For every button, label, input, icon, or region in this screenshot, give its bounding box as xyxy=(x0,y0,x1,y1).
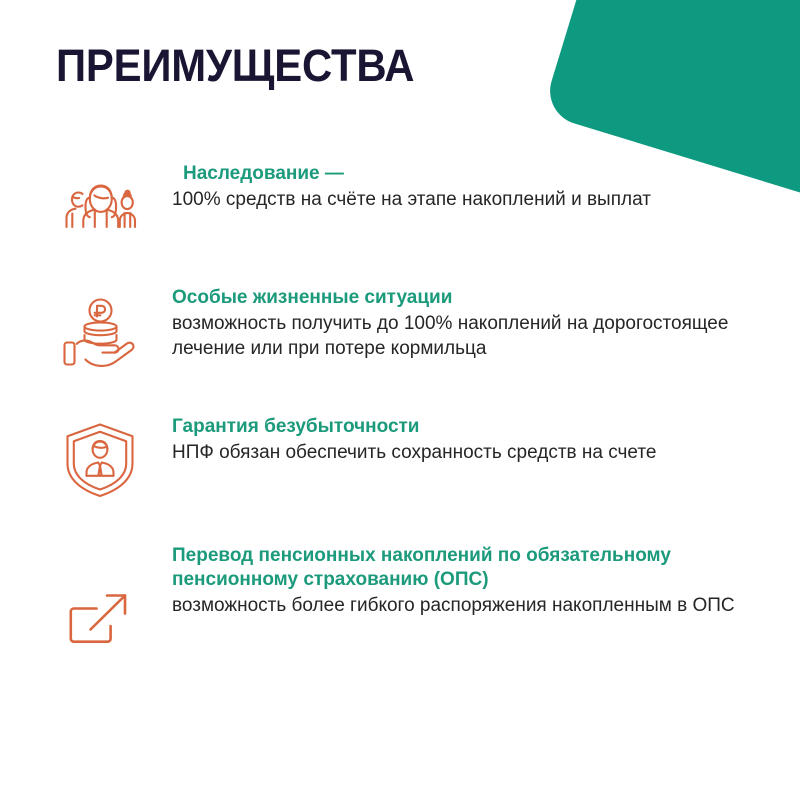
family-group-icon xyxy=(52,172,148,242)
page-title: ПРЕИМУЩЕСТВА xyxy=(56,38,414,94)
shield-person-icon xyxy=(52,420,148,500)
benefit-body: возможность более гибкого распоряжения н… xyxy=(172,593,800,618)
transfer-out-arrow-icon xyxy=(52,589,148,653)
benefit-body: НПФ обязан обеспечить сохранность средст… xyxy=(172,440,800,465)
hand-with-coins-ruble-icon xyxy=(52,297,148,373)
benefit-item-ops-transfer: Перевод пенсионных накоплений по обязате… xyxy=(0,544,800,653)
benefit-body: 100% средств на счёте на этапе накоплени… xyxy=(172,187,800,212)
benefit-heading: Особые жизненные ситуации xyxy=(172,286,800,310)
benefit-item-loss-protection: Гарантия безубыточности НПФ обязан обесп… xyxy=(0,415,800,500)
benefit-text-block: Наследование — 100% средств на счёте на … xyxy=(148,162,800,212)
benefit-text-block: Особые жизненные ситуации возможность по… xyxy=(148,286,800,361)
benefit-heading: Перевод пенсионных накоплений по обязате… xyxy=(172,544,800,592)
slide-canvas: ПРЕИМУЩЕСТВА xyxy=(0,0,800,800)
benefit-text-block: Перевод пенсионных накоплений по обязате… xyxy=(148,544,800,618)
benefit-heading: Наследование — xyxy=(172,162,800,186)
benefit-item-special-life-situations: Особые жизненные ситуации возможность по… xyxy=(0,286,800,373)
benefits-list: Наследование — 100% средств на счёте на … xyxy=(0,162,800,653)
benefit-item-inheritance: Наследование — 100% средств на счёте на … xyxy=(0,162,800,242)
benefit-heading: Гарантия безубыточности xyxy=(172,415,800,439)
benefit-body: возможность получить до 100% накоплений … xyxy=(172,311,800,361)
benefit-text-block: Гарантия безубыточности НПФ обязан обесп… xyxy=(148,415,800,465)
